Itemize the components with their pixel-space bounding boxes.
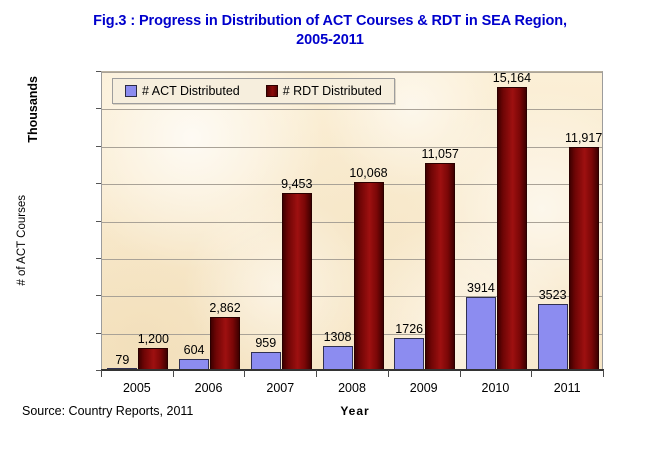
x-axis-tick-label: 2010	[482, 381, 510, 395]
bar-label-rdt: 1,200	[138, 332, 169, 346]
legend-swatch-act-icon	[125, 85, 137, 97]
x-axis-tick-label: 2011	[554, 381, 581, 395]
x-axis-tick-label: 2008	[338, 381, 366, 395]
bar-rdt-distributed	[354, 182, 384, 370]
bar-label-act: 1308	[324, 330, 352, 344]
bar-label-rdt: 15,164	[493, 71, 531, 85]
chart-title-line-2: 2005-2011	[40, 31, 620, 50]
legend-swatch-rdt-icon	[266, 85, 278, 97]
x-axis-tick-label: 2009	[410, 381, 438, 395]
bar-rdt-distributed	[497, 87, 527, 370]
x-axis-tick-label: 2007	[266, 381, 294, 395]
bar-label-rdt: 11,057	[422, 147, 459, 161]
bar-label-act: 604	[184, 343, 205, 357]
legend-item-rdt: # RDT Distributed	[266, 84, 382, 98]
source-note: Source: Country Reports, 2011	[22, 404, 193, 418]
bar-label-rdt: 2,862	[209, 301, 240, 315]
x-axis-tick-mark	[101, 370, 102, 377]
chart-title-line-1: Fig.3 : Progress in Distribution of ACT …	[93, 13, 567, 29]
bar-rdt-distributed	[425, 163, 455, 370]
bar-label-act: 3523	[539, 288, 567, 302]
x-axis-tick-mark	[244, 370, 245, 377]
chart-legend: # ACT Distributed # RDT Distributed	[112, 78, 395, 104]
bar-label-act: 3914	[467, 281, 495, 295]
y-axis-title: # of ACT Courses	[16, 195, 28, 286]
x-axis-tick-mark	[531, 370, 532, 377]
legend-label-rdt: # RDT Distributed	[283, 84, 382, 98]
bar-rdt-distributed	[210, 317, 240, 370]
bar-rdt-distributed	[282, 193, 312, 370]
bar-label-rdt: 9,453	[281, 177, 312, 191]
bar-label-act: 1726	[395, 322, 423, 336]
chart-title: Fig.3 : Progress in Distribution of ACT …	[40, 12, 620, 50]
x-axis-tick-label: 2006	[195, 381, 223, 395]
bar-act-distributed	[538, 304, 568, 370]
legend-label-act: # ACT Distributed	[142, 84, 240, 98]
x-axis-line	[101, 369, 604, 371]
bars-layer: 7960495913081726391435231,2002,8629,4531…	[102, 72, 602, 370]
bar-act-distributed	[251, 352, 281, 370]
x-axis-tick-label: 2005	[123, 381, 151, 395]
bar-label-act: 79	[115, 353, 129, 367]
bar-label-act: 959	[255, 336, 276, 350]
x-axis-tick-mark	[173, 370, 174, 377]
x-axis-tick-mark	[603, 370, 604, 377]
plot-area: 7960495913081726391435231,2002,8629,4531…	[101, 71, 603, 370]
y-axis-units-label: Thousands	[26, 76, 40, 143]
bar-act-distributed	[323, 346, 353, 370]
bar-label-rdt: 11,917	[565, 131, 602, 145]
x-axis-tick-mark	[388, 370, 389, 377]
legend-item-act: # ACT Distributed	[125, 84, 240, 98]
bar-rdt-distributed	[138, 348, 168, 370]
bar-act-distributed	[466, 297, 496, 370]
bar-rdt-distributed	[569, 147, 599, 370]
bar-label-rdt: 10,068	[349, 166, 387, 180]
x-axis-tick-mark	[460, 370, 461, 377]
x-axis-tick-mark	[316, 370, 317, 377]
bar-act-distributed	[394, 338, 424, 370]
